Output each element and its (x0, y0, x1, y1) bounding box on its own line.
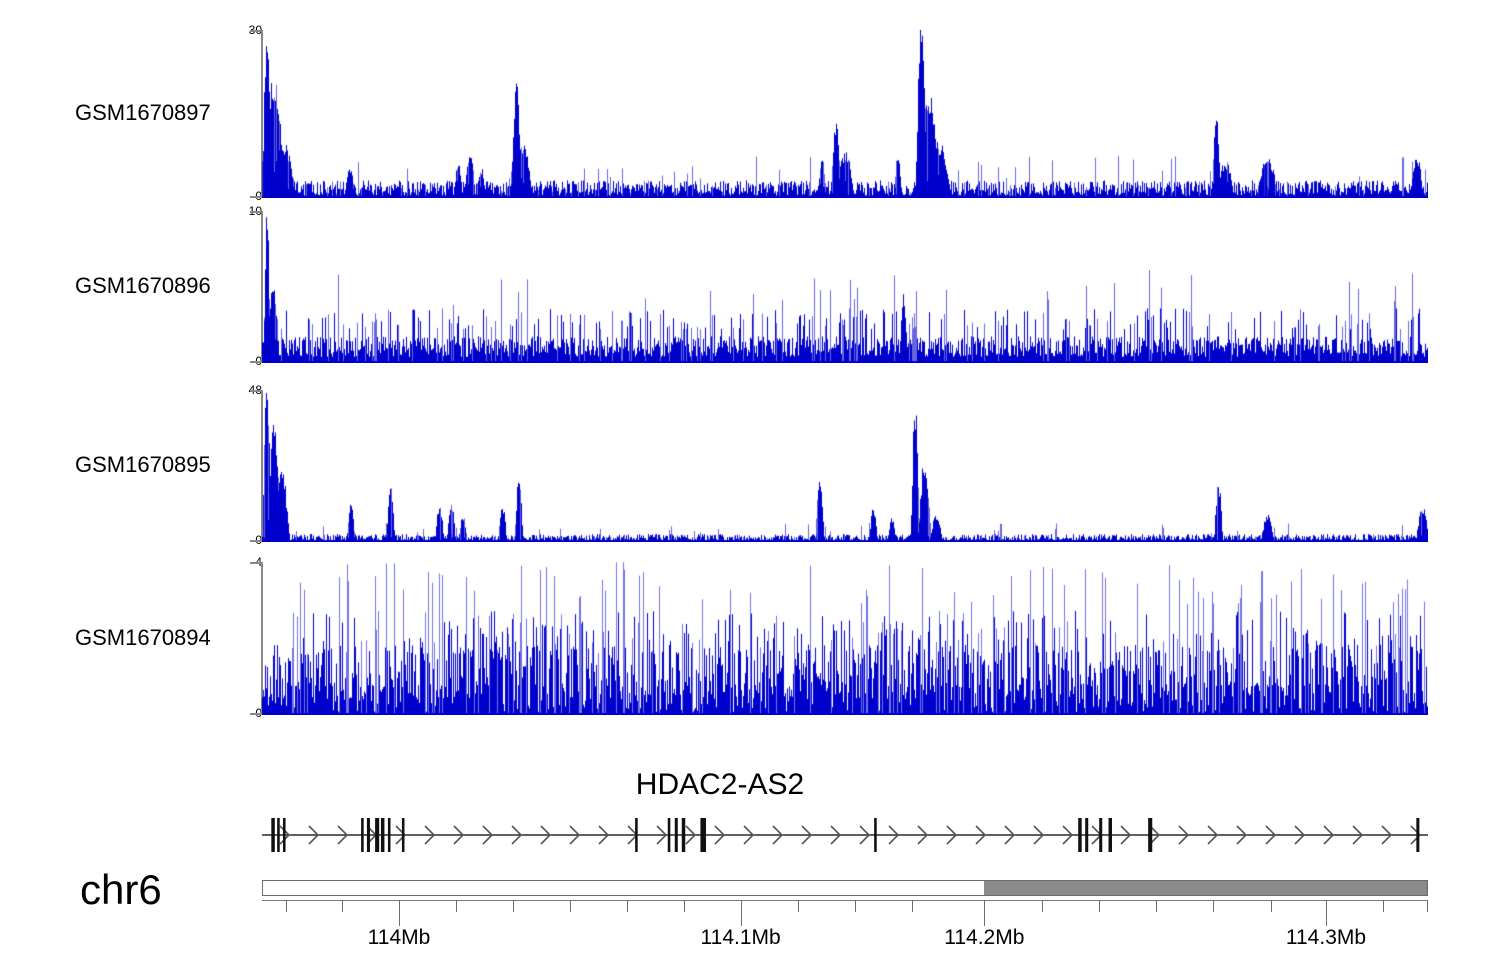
gene-exon (1148, 818, 1152, 852)
ruler-tick-minor (286, 900, 287, 912)
ruler-tick-minor (342, 900, 343, 912)
gene-exon (402, 818, 405, 852)
axis-tick-max (250, 30, 262, 32)
gene-exon (635, 818, 638, 852)
ruler-tick-label: 114.1Mb (701, 926, 781, 950)
axis-tick-min (250, 713, 262, 715)
ruler-tick-minor (1427, 900, 1428, 912)
gene-exon (682, 818, 685, 852)
ruler-tick-minor (627, 900, 628, 912)
gene-exon (1109, 818, 1112, 852)
gene-exon (271, 818, 274, 852)
gene-exon (283, 818, 286, 852)
ruler-tick-major (741, 900, 742, 926)
signal-plot-area[interactable] (262, 211, 1428, 363)
gene-exon (668, 818, 671, 852)
ruler-tick-minor (912, 900, 913, 912)
ruler-tick-minor (456, 900, 457, 912)
track-y-axis: 40 (215, 562, 262, 715)
axis-tick-max (250, 562, 262, 564)
coverage-canvas (262, 30, 1428, 198)
coverage-canvas (262, 390, 1428, 542)
ruler-tick-minor (1271, 900, 1272, 912)
ruler-tick-minor (798, 900, 799, 912)
ruler-tick-minor (855, 900, 856, 912)
ideogram-bar[interactable] (262, 880, 1428, 896)
chromosome-label: chr6 (80, 866, 260, 914)
ruler-tick-major (984, 900, 985, 926)
coordinate-ruler[interactable]: 114Mb114.1Mb114.2Mb114.3Mb (262, 900, 1428, 970)
signal-plot-area[interactable] (262, 30, 1428, 198)
signal-track-gsm1670894[interactable]: GSM167089440 (0, 562, 1500, 715)
gene-name-label: HDAC2-AS2 (0, 768, 1500, 802)
gene-exon (388, 818, 391, 852)
signal-track-gsm1670896[interactable]: GSM1670896100 (0, 211, 1500, 363)
gene-exon (1085, 818, 1088, 852)
track-y-axis: 100 (215, 211, 262, 363)
track-y-axis: 300 (215, 30, 262, 198)
signal-plot-area[interactable] (262, 562, 1428, 715)
ruler-tick-minor (1383, 900, 1384, 912)
signal-track-gsm1670897[interactable]: GSM1670897300 (0, 30, 1500, 198)
axis-tick-max (250, 211, 262, 213)
gene-exon (675, 818, 678, 852)
ruler-tick-label: 114Mb (368, 926, 431, 950)
ruler-tick-minor (570, 900, 571, 912)
gene-exon (375, 818, 379, 852)
ruler-tick-major (399, 900, 400, 926)
ruler-tick-minor (1213, 900, 1214, 912)
ruler-baseline (262, 900, 1428, 901)
gene-model-svg (262, 812, 1428, 858)
ruler-tick-label: 114.3Mb (1286, 926, 1366, 950)
signal-track-gsm1670895[interactable]: GSM1670895480 (0, 390, 1500, 542)
gene-exon (277, 818, 280, 852)
ruler-tick-minor (513, 900, 514, 912)
gene-exon (700, 818, 706, 852)
signal-plot-area[interactable] (262, 390, 1428, 542)
axis-tick-min (250, 361, 262, 363)
coverage-canvas (262, 562, 1428, 715)
gene-exon (1099, 818, 1102, 852)
gene-exon (361, 818, 364, 852)
ideogram-band-gray (984, 881, 1427, 895)
ruler-tick-minor (1099, 900, 1100, 912)
axis-tick-min (250, 540, 262, 542)
axis-tick-max (250, 390, 262, 392)
gene-exon (367, 818, 370, 852)
ruler-tick-label: 114.2Mb (944, 926, 1024, 950)
gene-model-track[interactable] (262, 812, 1428, 858)
ruler-tick-minor (1156, 900, 1157, 912)
gene-exon (1078, 818, 1081, 852)
track-y-axis: 480 (215, 390, 262, 542)
gene-exon (1416, 818, 1419, 852)
gene-exon (381, 818, 384, 852)
ruler-tick-major (1326, 900, 1327, 926)
gene-exon (874, 818, 877, 852)
ruler-tick-minor (1042, 900, 1043, 912)
gene-name-text: HDAC2-AS2 (636, 768, 804, 802)
ruler-tick-minor (684, 900, 685, 912)
coverage-canvas (262, 211, 1428, 363)
axis-tick-min (250, 196, 262, 198)
genome-browser: GSM1670897300GSM1670896100GSM1670895480G… (0, 0, 1500, 980)
